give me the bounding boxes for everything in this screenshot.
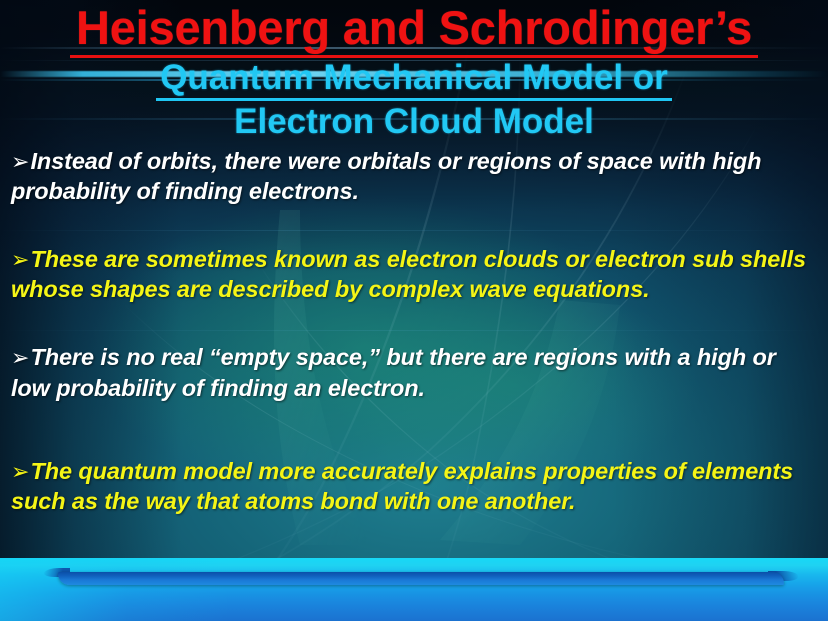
bullet-item: ➢The quantum model more accurately expla… [11, 456, 818, 517]
bullet-text: Instead of orbits, there were orbitals o… [11, 148, 761, 204]
slide-subtitle-block: Quantum Mechanical Model or Electron Clo… [0, 59, 828, 142]
bullet-text: There is no real “empty space,” but ther… [11, 344, 776, 400]
bottom-band-glow [0, 558, 230, 621]
bullet-item: ➢These are sometimes known as electron c… [11, 244, 818, 305]
bullet-arrow-icon: ➢ [11, 345, 30, 370]
bullet-arrow-icon: ➢ [11, 149, 30, 174]
bullet-arrow-icon: ➢ [11, 247, 30, 272]
bullet-list: ➢Instead of orbits, there were orbitals … [0, 146, 828, 540]
slide-title-block: Heisenberg and Schrodinger’s Quantum Mec… [0, 0, 828, 142]
slide-subtitle-line-1: Quantum Mechanical Model or [156, 59, 672, 102]
presentation-slide: Heisenberg and Schrodinger’s Quantum Mec… [0, 0, 828, 621]
slide-title: Heisenberg and Schrodinger’s [70, 3, 758, 58]
bullet-item: ➢Instead of orbits, there were orbitals … [11, 146, 818, 207]
bullet-item: ➢There is no real “empty space,” but the… [11, 342, 818, 403]
bullet-arrow-icon: ➢ [11, 459, 30, 484]
bullet-text: The quantum model more accurately explai… [11, 458, 793, 514]
bottom-accent-bar [58, 572, 784, 585]
bullet-text: These are sometimes known as electron cl… [11, 246, 806, 302]
slide-subtitle-line-2: Electron Cloud Model [0, 103, 828, 142]
